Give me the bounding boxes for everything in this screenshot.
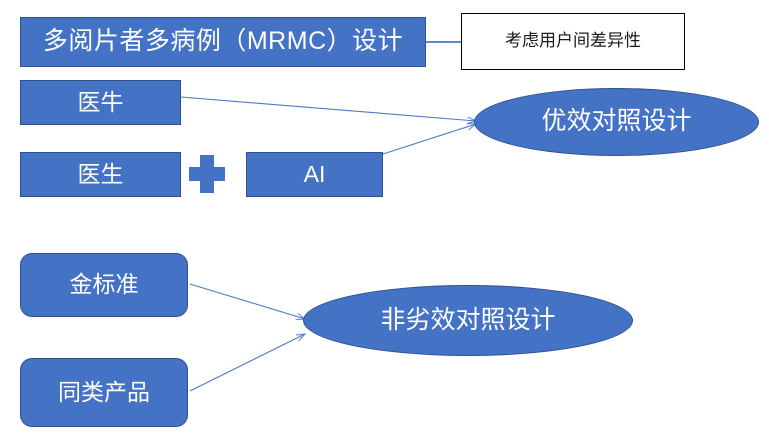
connector-gold-to-noninferiority: [190, 284, 305, 319]
gold-standard-box-label: 金标准: [70, 272, 139, 297]
title-box-label: 多阅片者多病例（MRMC）设计: [43, 28, 403, 56]
similar-product-box-label: 同类产品: [58, 380, 150, 405]
plus-icon: [189, 155, 225, 193]
ai-box-label: AI: [304, 162, 326, 187]
noninferiority-ellipse[interactable]: 非劣效对照设计: [303, 285, 633, 356]
doctor-box-label: 医生: [78, 162, 124, 187]
title-box[interactable]: 多阅片者多病例（MRMC）设计: [20, 17, 426, 67]
connector-ai-to-superiority: [383, 124, 476, 154]
diagram-canvas: 多阅片者多病例（MRMC）设计 考虑用户间差异性 医牛 医生 AI 优效对照设计…: [0, 0, 769, 444]
gold-standard-box[interactable]: 金标准: [20, 253, 188, 317]
superiority-ellipse[interactable]: 优效对照设计: [474, 88, 759, 156]
reader-box[interactable]: 医牛: [20, 80, 181, 125]
reader-box-label: 医牛: [78, 90, 124, 115]
superiority-ellipse-label: 优效对照设计: [541, 108, 691, 136]
similar-product-box[interactable]: 同类产品: [20, 358, 188, 427]
note-box[interactable]: 考虑用户间差异性: [461, 13, 685, 70]
connector-similar-to-noninferiority: [190, 334, 305, 391]
note-box-label: 考虑用户间差异性: [505, 32, 641, 51]
doctor-box[interactable]: 医生: [20, 152, 181, 197]
noninferiority-ellipse-label: 非劣效对照设计: [380, 307, 555, 335]
connector-reader-to-superiority: [181, 97, 476, 121]
ai-box[interactable]: AI: [246, 152, 383, 197]
